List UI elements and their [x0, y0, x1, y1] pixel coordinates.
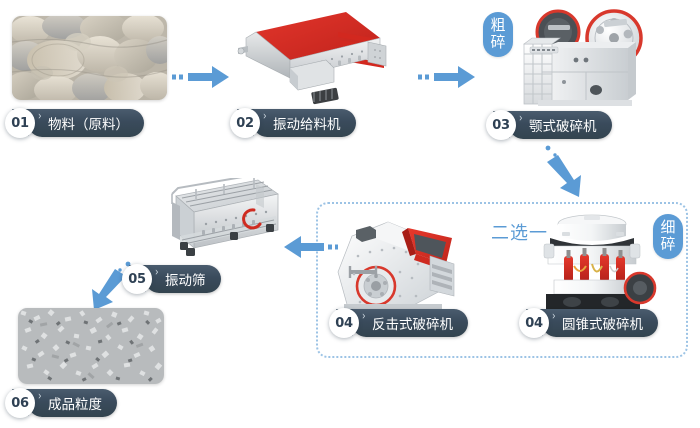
step-number-04-cone: 04 [519, 308, 549, 338]
step-badge-05: 05 › 振动筛 [122, 264, 221, 294]
step-badge-06: 06 › 成品粒度 [5, 388, 117, 418]
stage-tag-coarse: 粗 碎 [483, 12, 513, 57]
step-badge-04-cone: 04 › 圆锥式破碎机 [519, 308, 658, 338]
step-badge-01: 01 › 物料（原料） [5, 108, 144, 138]
cone-crusher [528, 208, 658, 320]
step-number-04-impact: 04 [329, 308, 359, 338]
chevron-right-icon: › [263, 112, 267, 123]
step-label-01: 物料（原料） [48, 113, 129, 133]
step-number-01: 01 [5, 108, 35, 138]
step-label-04-cone: 圆锥式破碎机 [562, 313, 643, 333]
stage-tag-char: 碎 [483, 34, 513, 51]
step-label-05: 振动筛 [165, 269, 206, 289]
step-label-06: 成品粒度 [48, 393, 102, 413]
arrow-secondary-to-screen [284, 234, 338, 260]
step-pill-03[interactable]: › 颚式破碎机 [509, 111, 612, 139]
arrow-feeder-to-jaw [418, 62, 476, 92]
step-pill-04-impact[interactable]: › 反击式破碎机 [352, 309, 468, 337]
stage-tag-char: 粗 [483, 17, 513, 34]
chevron-right-icon: › [38, 392, 42, 403]
step-number-02: 02 [230, 108, 260, 138]
step-badge-02: 02 › 振动给料机 [230, 108, 356, 138]
chevron-right-icon: › [155, 268, 159, 279]
step-pill-02[interactable]: › 振动给料机 [253, 109, 356, 137]
flow-diagram: 01 › 物料（原料） [0, 0, 700, 428]
arrow-jaw-to-secondary [534, 142, 590, 204]
step-number-05: 05 [122, 264, 152, 294]
step-pill-04-cone[interactable]: › 圆锥式破碎机 [542, 309, 658, 337]
vibrating-feeder [228, 8, 388, 108]
step-pill-06[interactable]: › 成品粒度 [28, 389, 117, 417]
finished-aggregate-photo [18, 308, 164, 384]
step-label-04-impact: 反击式破碎机 [372, 313, 453, 333]
chevron-right-icon: › [38, 112, 42, 123]
step-badge-03: 03 › 颚式破碎机 [486, 110, 612, 140]
step-badge-04-impact: 04 › 反击式破碎机 [329, 308, 468, 338]
chevron-right-icon: › [519, 114, 523, 125]
step-pill-01[interactable]: › 物料（原料） [28, 109, 144, 137]
jaw-crusher [518, 4, 654, 116]
step-label-02: 振动给料机 [273, 113, 341, 133]
impact-crusher [330, 212, 470, 320]
step-label-03: 颚式破碎机 [529, 115, 597, 135]
chevron-right-icon: › [552, 312, 556, 323]
step-pill-05[interactable]: › 振动筛 [145, 265, 221, 293]
chevron-right-icon: › [362, 312, 366, 323]
arrow-raw-to-feeder [172, 62, 230, 92]
step-number-06: 06 [5, 388, 35, 418]
raw-stone-photo [12, 16, 167, 100]
step-number-03: 03 [486, 110, 516, 140]
